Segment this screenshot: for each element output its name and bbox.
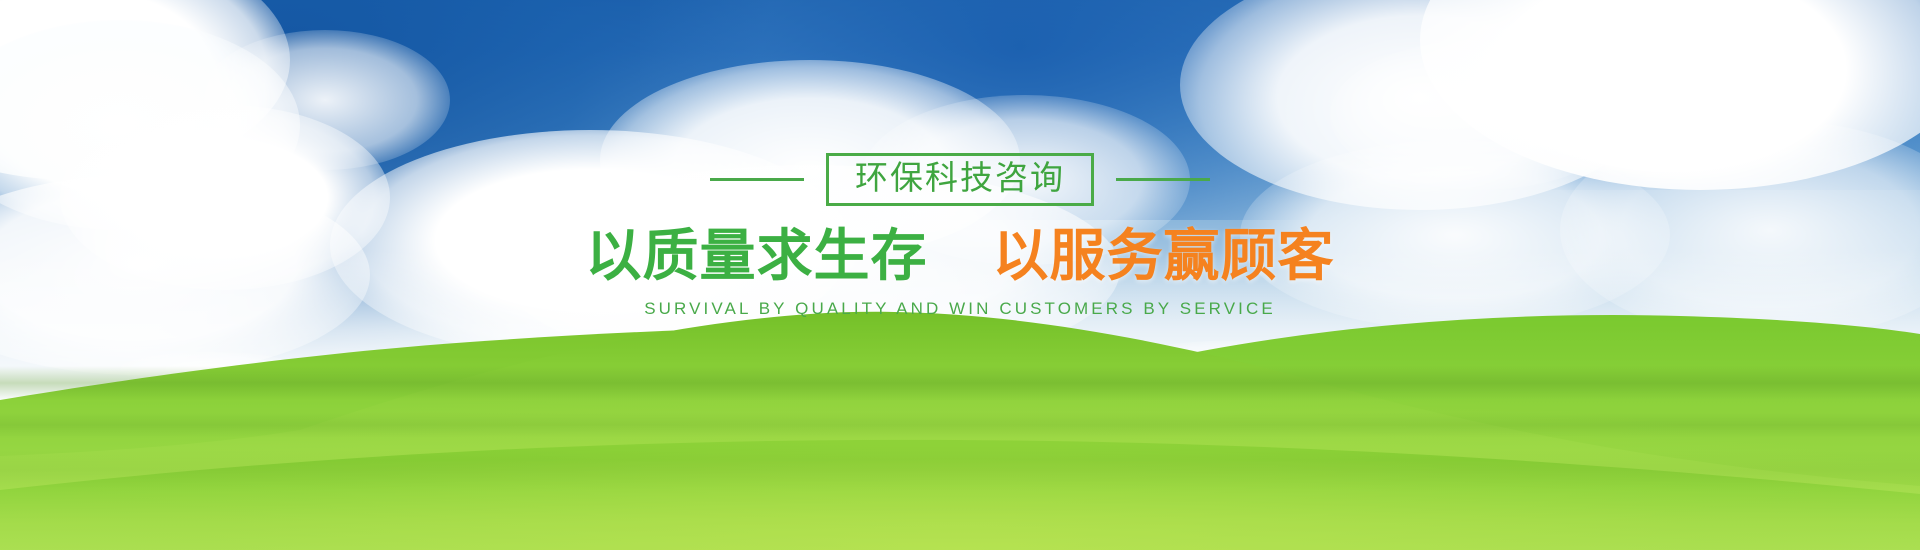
banner-copy: 环保科技咨询 以质量求生存 以服务赢顾客 SURVIVAL BY QUALITY… [0,148,1920,319]
hero-banner: 环保科技咨询 以质量求生存 以服务赢顾客 SURVIVAL BY QUALITY… [0,0,1920,550]
eyebrow-rule-right [1116,178,1210,181]
eyebrow-label: 环保科技咨询 [855,158,1065,197]
subtitle: SURVIVAL BY QUALITY AND WIN CUSTOMERS BY… [0,299,1920,319]
eyebrow-box: 环保科技咨询 [826,153,1094,206]
eyebrow-row: 环保科技咨询 [0,148,1920,210]
headline-green-part: 以质量求生存 [586,224,928,289]
eyebrow-rule-left [710,178,804,181]
headline: 以质量求生存 以服务赢顾客 [0,228,1920,287]
grass-highlight [0,400,1920,550]
headline-orange-part: 以服务赢顾客 [993,224,1335,289]
